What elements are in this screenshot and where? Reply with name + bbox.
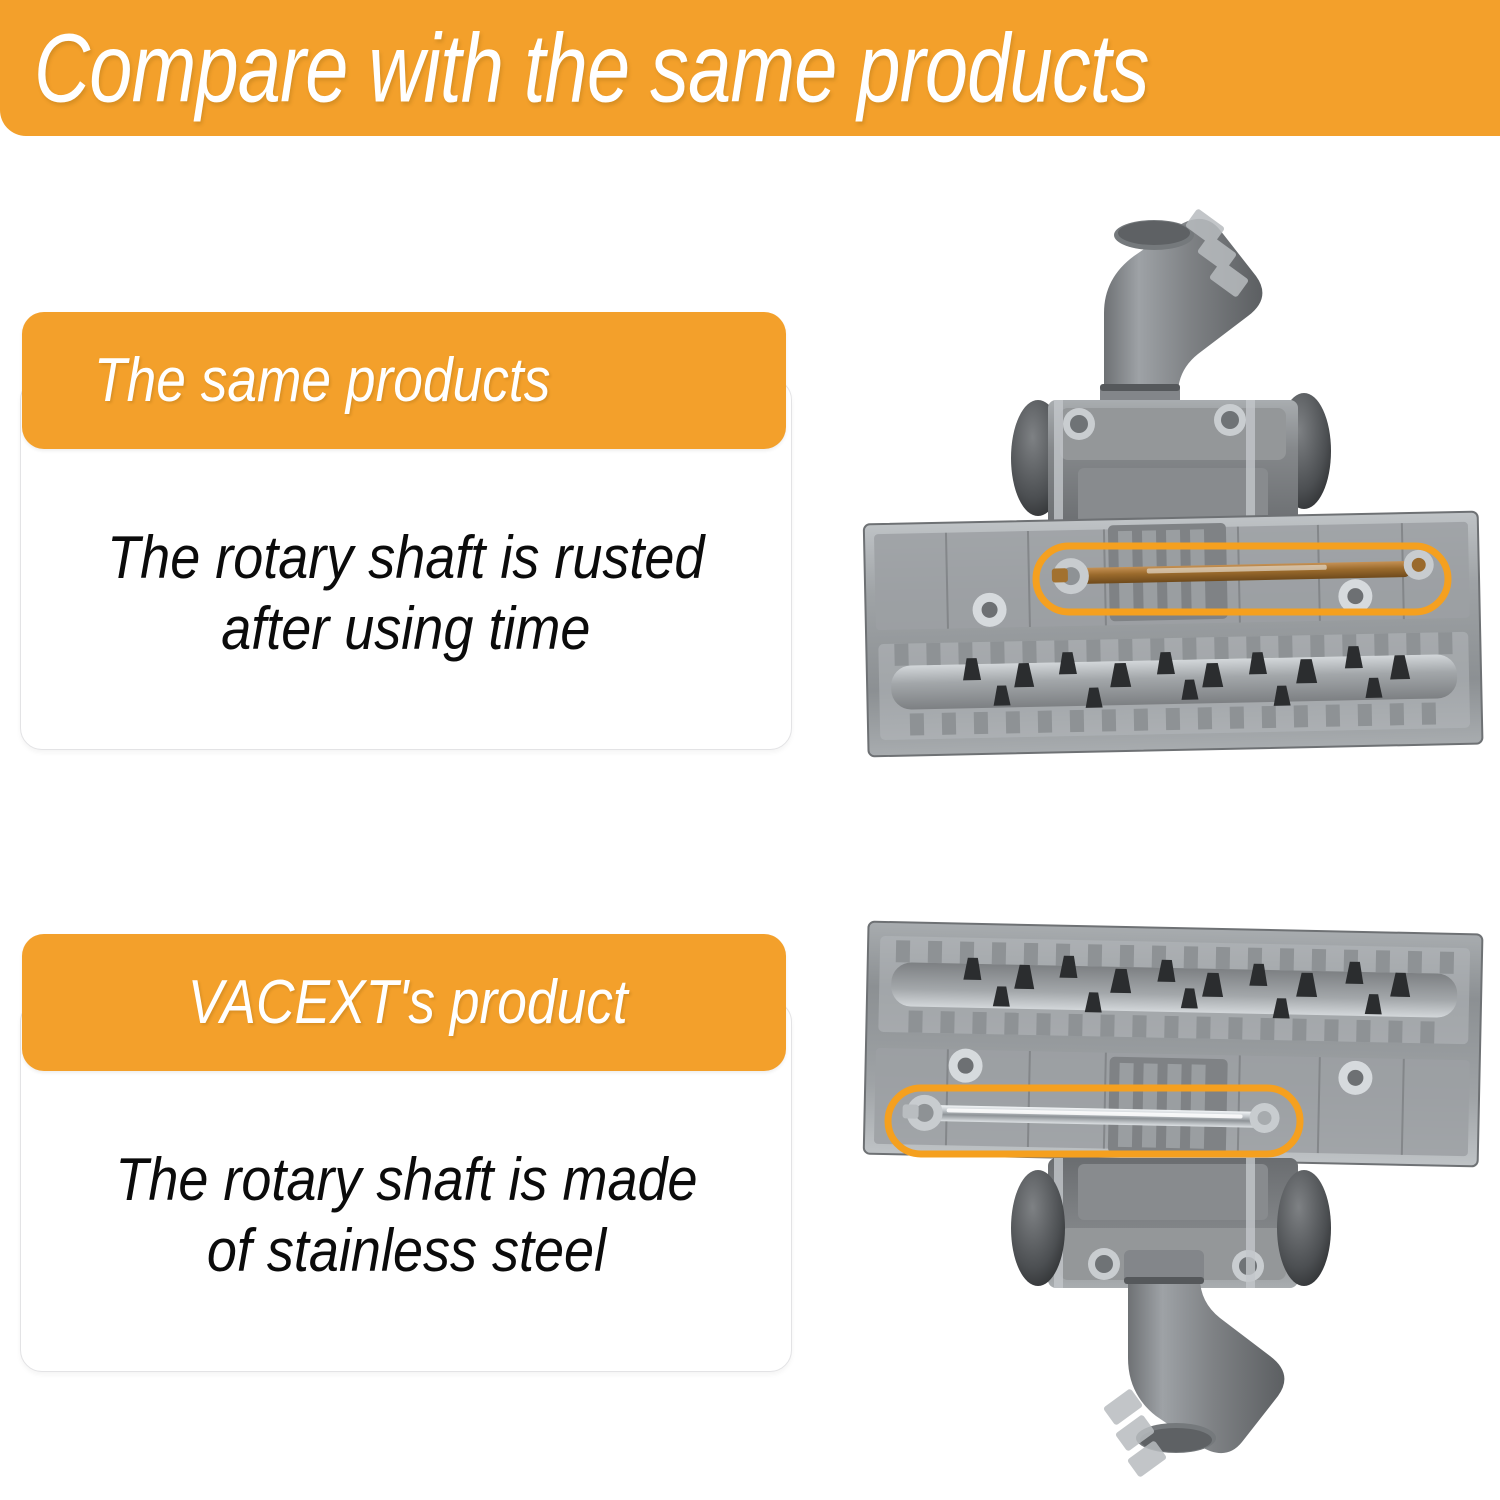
badge-vacext-product: VACEXT's product	[22, 934, 786, 1071]
page-title: Compare with the same products	[34, 20, 1149, 117]
infographic-page: Compare with the same products The rotar…	[0, 0, 1500, 1500]
vacuum-neck-elbow	[1100, 208, 1262, 422]
badge-label-same-products: The same products	[94, 350, 550, 412]
badge-same-products: The same products	[22, 312, 786, 449]
vacext-product-vacuum-head-photo	[848, 898, 1496, 1498]
same-product-vacuum-head-photo	[848, 168, 1496, 768]
badge-label-vacext-product: VACEXT's product	[188, 972, 628, 1034]
description-text-same-products: The rotary shaft is rusted after using t…	[107, 522, 704, 665]
header-banner: Compare with the same products	[0, 0, 1500, 136]
vacuum-motor-housing	[1048, 400, 1298, 530]
vacuum-head-housing	[864, 922, 1483, 1167]
description-text-vacext-product: The rotary shaft is made of stainless st…	[115, 1144, 697, 1287]
